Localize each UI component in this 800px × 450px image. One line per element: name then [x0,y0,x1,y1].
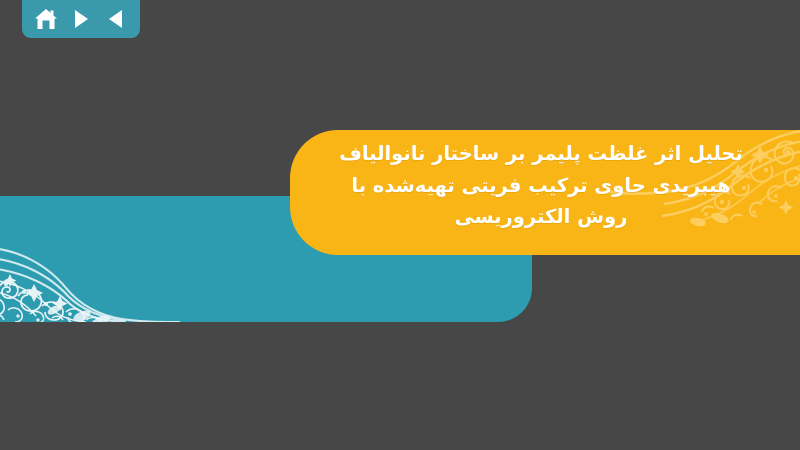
arabesque-ornament-teal [0,196,180,322]
title-line-1: تحلیل اثر غلظت پلیمر بر ساختار نانوالیاف [306,138,776,170]
home-button[interactable] [31,5,61,33]
previous-button[interactable] [101,5,131,33]
slide-canvas: تحلیل اثر غلظت پلیمر بر ساختار نانوالیاف… [0,0,800,450]
triangle-left-icon [107,9,125,29]
title-line-3: روش الکتروریسی [306,201,776,233]
title-line-2: هیبریدی حاوی ترکیب فریتی تهیه‌شده با [306,170,776,202]
next-button[interactable] [66,5,96,33]
navigation-bar [22,0,140,38]
triangle-right-icon [72,9,90,29]
home-icon [34,8,58,30]
page-title: تحلیل اثر غلظت پلیمر بر ساختار نانوالیاف… [306,138,776,233]
